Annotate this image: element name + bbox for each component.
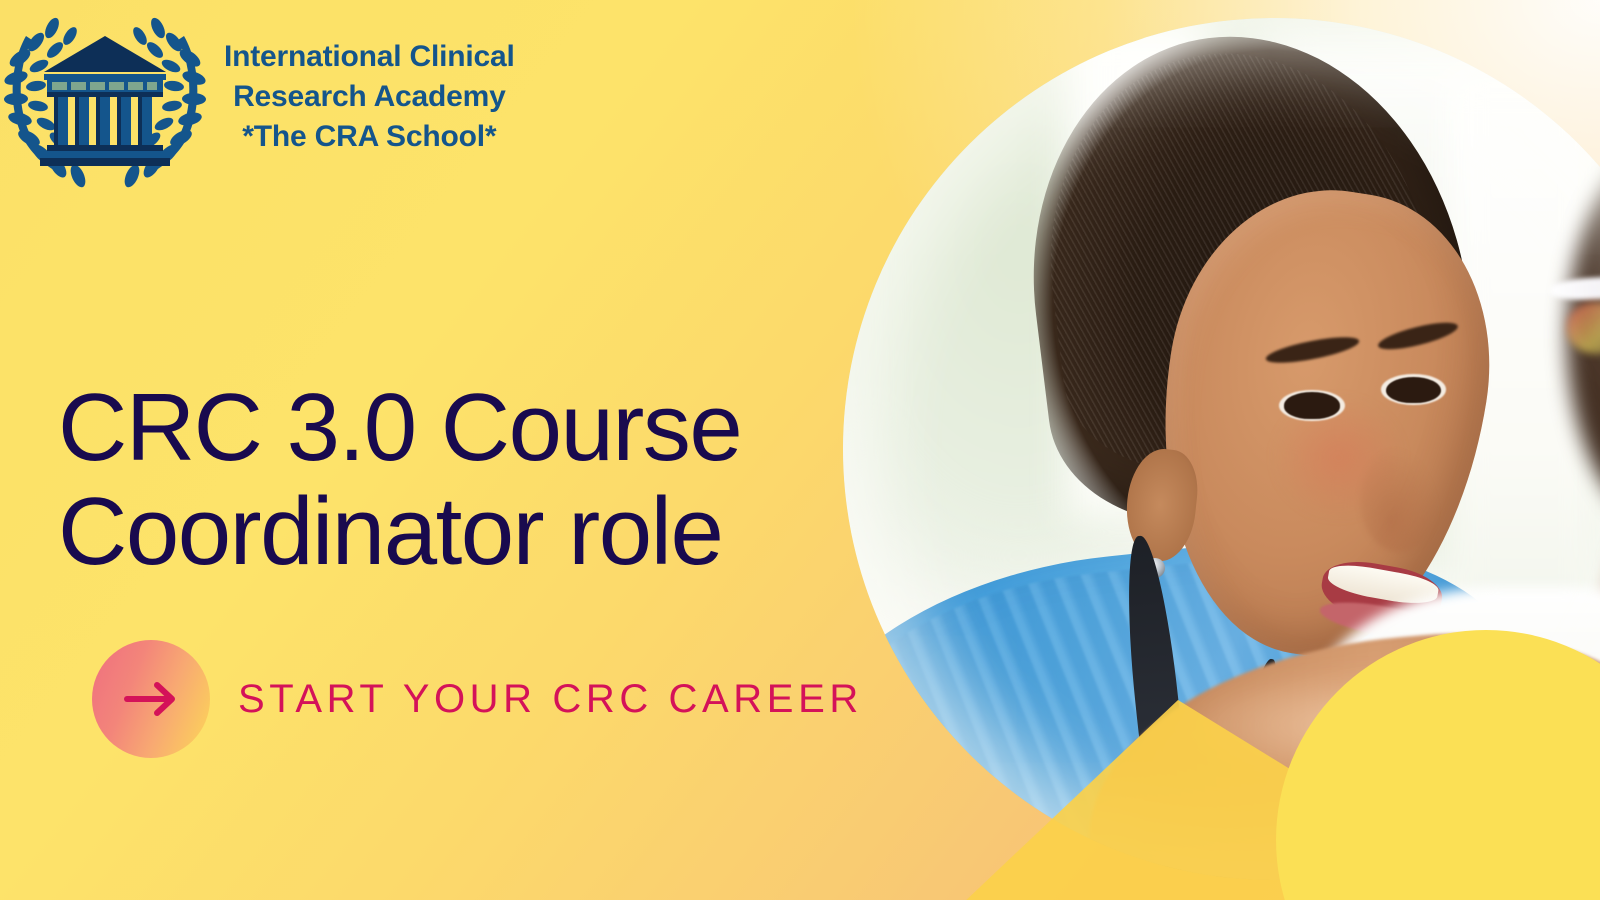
brand-logo[interactable]: International Clinical Research Academy … (0, 6, 515, 188)
start-career-cta[interactable]: START YOUR CRC CAREER (92, 640, 863, 758)
headline-line-2: Coordinator role (58, 478, 722, 585)
laurel-wreath-classical-building-icon (0, 6, 210, 188)
nurse-eye-right (1386, 377, 1441, 404)
arrow-right-icon (123, 679, 179, 719)
headline-line-1: CRC 3.0 Course (58, 374, 741, 481)
page-title: CRC 3.0 CourseCoordinator role (58, 376, 848, 583)
cta-label[interactable]: START YOUR CRC CAREER (238, 677, 863, 722)
brand-name: International Clinical Research Academy … (224, 37, 515, 157)
nurse-eye-left (1284, 392, 1339, 419)
promotional-banner: International Clinical Research Academy … (0, 0, 1600, 900)
nurse-nose (1360, 449, 1438, 552)
cta-arrow-circle[interactable] (92, 640, 210, 758)
